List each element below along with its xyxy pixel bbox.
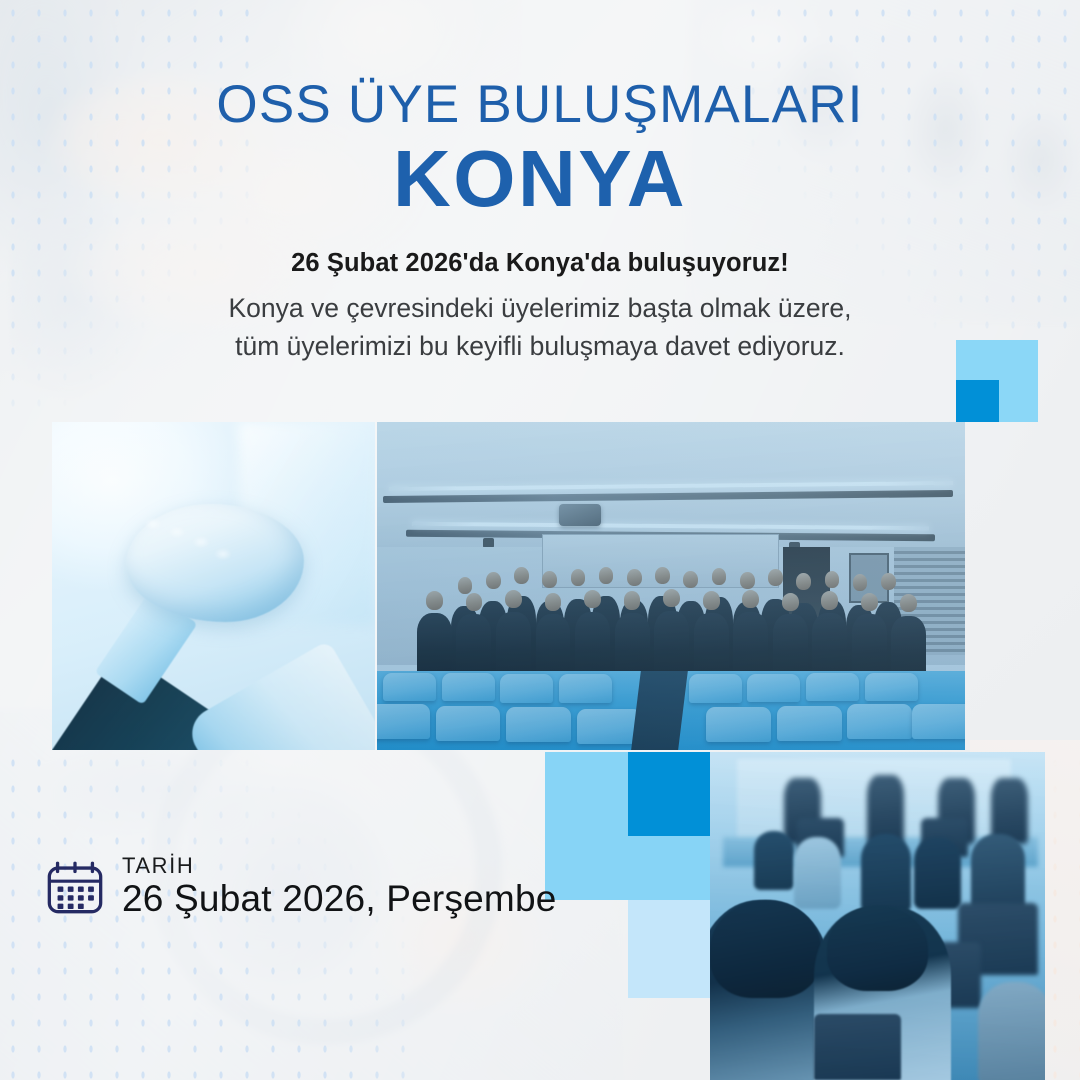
title-main: OSS ÜYE BULUŞMALARI [0, 78, 1080, 131]
decor-square-dark-bottom-center [628, 752, 715, 836]
handshake-clasped-hands-photo [52, 422, 375, 750]
lead-text: 26 Şubat 2026'da Konya'da buluşuyoruz! [0, 249, 1080, 278]
body-line-1: Konya ve çevresindeki üyelerimiz başta o… [0, 290, 1080, 328]
date-label: TARİH [122, 855, 557, 877]
photo-blue-tint [52, 422, 375, 750]
decor-square-pale-bottom-center [628, 900, 715, 998]
page-title: OSS ÜYE BULUŞMALARI KONYA [0, 78, 1080, 219]
body-line-2: tüm üyelerimizi bu keyifli buluşmaya dav… [0, 328, 1080, 366]
date-value: 26 Şubat 2026, Perşembe [122, 880, 557, 917]
conference-audience-photo [710, 752, 1045, 1080]
decor-square-dark-top-right [956, 380, 999, 422]
calendar-icon [44, 855, 106, 917]
group-photo-auditorium [377, 422, 965, 750]
date-texts: TARİH 26 Şubat 2026, Perşembe [122, 855, 557, 917]
photo-duotone-multiply [710, 752, 1045, 1080]
body-copy: Konya ve çevresindeki üyelerimiz başta o… [0, 290, 1080, 365]
title-city: KONYA [0, 139, 1080, 219]
poster-canvas: OSS ÜYE BULUŞMALARI KONYA 26 Şubat 2026'… [0, 0, 1080, 1080]
photo-duotone-screen [377, 422, 965, 750]
date-block: TARİH 26 Şubat 2026, Perşembe [44, 855, 557, 917]
